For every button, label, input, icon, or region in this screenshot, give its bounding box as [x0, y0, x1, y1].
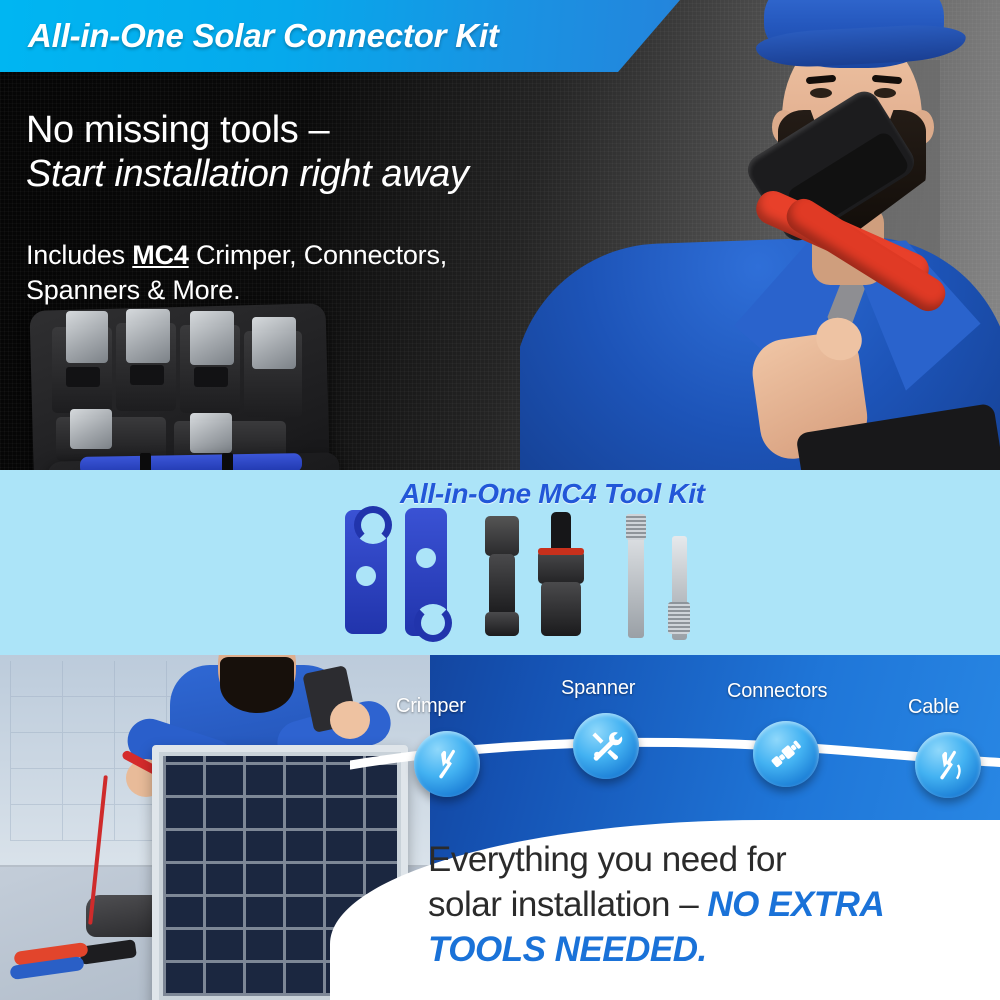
- connector-male-cap: [485, 516, 519, 556]
- headline-line-1: No missing tools –: [26, 108, 469, 152]
- band-title: All-in-One MC4 Tool Kit: [400, 478, 705, 510]
- banner-title: All-in-One Solar Connector Kit: [28, 17, 499, 55]
- product-spanner-1: [345, 510, 387, 634]
- cable-icon: [929, 746, 967, 784]
- tool-case-photo: [22, 305, 332, 480]
- feature-circle-spanner[interactable]: [573, 713, 639, 779]
- spanner-icon: [587, 727, 625, 765]
- feature-label-cable: Cable: [908, 696, 959, 719]
- connector-male-body: [489, 554, 515, 616]
- subcopy-prefix: Includes: [26, 240, 132, 270]
- parts-bag-1: [66, 311, 108, 363]
- infographic-canvas: All-in-One Solar Connector Kit No missin…: [0, 0, 1000, 1000]
- tagline-line-1: Everything you need for: [428, 840, 786, 879]
- headline-line-2: Start installation right away: [26, 152, 469, 196]
- velcro-tab-3: [194, 367, 228, 387]
- connector-female-base: [541, 582, 581, 636]
- parts-bag-4: [252, 317, 296, 369]
- velcro-tab-2: [130, 365, 164, 385]
- parts-bag-6: [190, 413, 232, 453]
- connectors-icon: [767, 735, 805, 773]
- connector-male-base: [485, 612, 519, 636]
- worker-hand-right: [330, 701, 370, 739]
- feature-label-spanner: Spanner: [561, 677, 635, 700]
- floor-crimper-head: [79, 939, 137, 965]
- velcro-tab-1: [66, 367, 100, 387]
- product-spanner-2: [405, 508, 447, 636]
- subcopy-emphasis: MC4: [132, 240, 188, 270]
- connector-female-body: [538, 550, 584, 584]
- crimp-pin-1-barrel: [626, 514, 646, 540]
- tagline-emphasis-2: TOOLS NEEDED.: [428, 930, 707, 969]
- feature-label-crimper: Crimper: [396, 695, 466, 718]
- subcopy-block: Includes MC4 Crimper, Connectors, Spanne…: [26, 238, 526, 307]
- parts-bag-3: [190, 311, 234, 365]
- headline-block: No missing tools – Start installation ri…: [26, 108, 469, 196]
- technician-eye-right: [874, 88, 896, 98]
- tagline-line-2: solar installation –: [428, 885, 707, 924]
- technician-photo: [520, 0, 1000, 480]
- tagline-emphasis-1: NO EXTRA: [707, 885, 884, 924]
- header-banner: All-in-One Solar Connector Kit: [0, 0, 680, 72]
- tagline-block: Everything you need for solar installati…: [428, 838, 988, 972]
- connector-red-ring: [538, 548, 584, 555]
- technician-eye-left: [810, 88, 832, 98]
- feature-circle-cable[interactable]: [915, 732, 981, 798]
- feature-circle-crimper[interactable]: [414, 731, 480, 797]
- worker-beard: [220, 657, 294, 713]
- crimper-icon: [428, 745, 466, 783]
- feature-circle-connectors[interactable]: [753, 721, 819, 787]
- parts-bag-5: [70, 409, 112, 449]
- crimp-pin-2-barrel: [668, 602, 690, 634]
- top-section: All-in-One Solar Connector Kit No missin…: [0, 0, 1000, 480]
- parts-bag-2: [126, 309, 170, 363]
- feature-label-connectors: Connectors: [727, 680, 827, 703]
